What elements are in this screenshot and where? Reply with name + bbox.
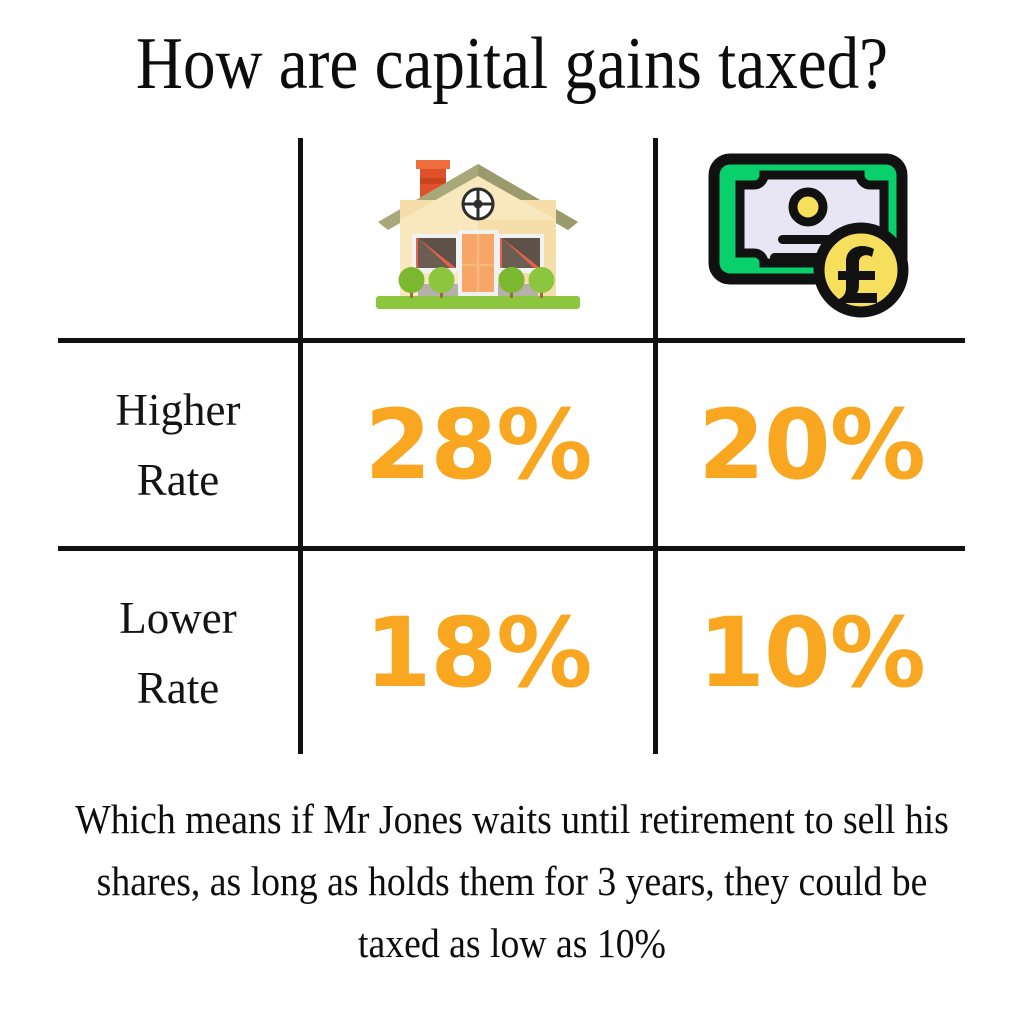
row-label-line1: Lower: [119, 583, 236, 653]
infographic-canvas: How are capital gains taxed?: [0, 0, 1024, 1024]
caption-text: Which means if Mr Jones waits until reti…: [59, 788, 964, 974]
rate-value-higher-shares: 20%: [658, 343, 965, 546]
page-title: How are capital gains taxed?: [61, 22, 962, 106]
property-column-header: [303, 140, 653, 338]
rate-value-higher-property: 28%: [303, 343, 653, 546]
rate-value-lower-shares: 10%: [658, 551, 965, 754]
row-label-lower-rate: Lower Rate: [58, 551, 298, 754]
row-label-line2: Rate: [137, 653, 219, 723]
rate-value-lower-property: 18%: [303, 551, 653, 754]
banknote-pound-icon: [706, 149, 918, 329]
house-icon: [372, 156, 584, 323]
shares-column-header: [658, 140, 965, 338]
row-label-line2: Rate: [137, 445, 219, 515]
row-label-line1: Higher: [116, 375, 241, 445]
row-label-higher-rate: Higher Rate: [58, 343, 298, 546]
